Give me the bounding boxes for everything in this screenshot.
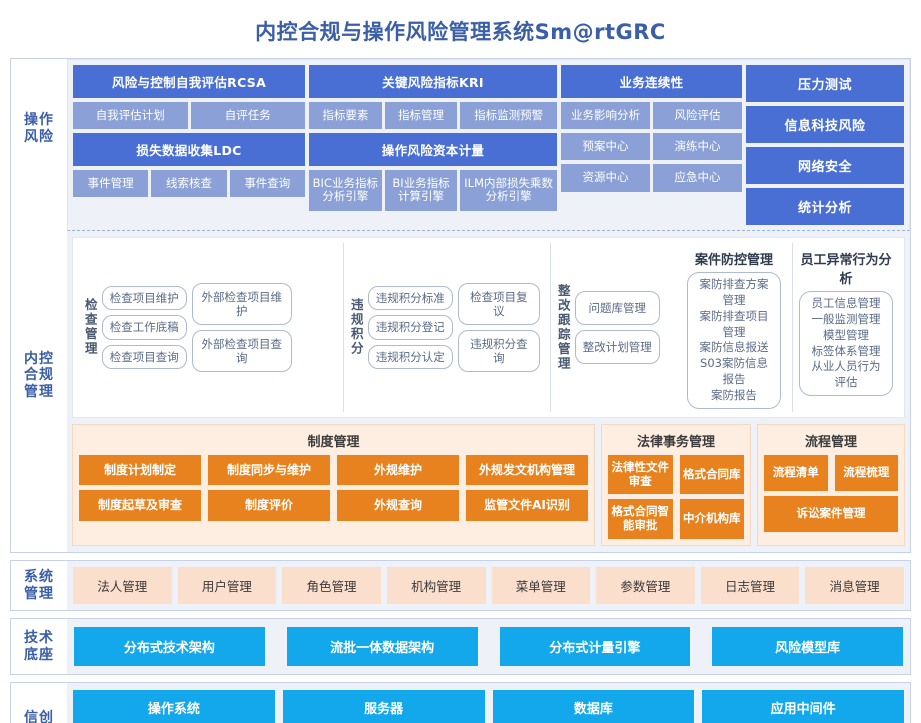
btn-litigation-case-management[interactable]: 诉讼案件管理 — [764, 496, 898, 532]
pill-column-violation-a: 违规积分标准 违规积分登记 违规积分认定 — [368, 286, 453, 369]
btn-distributed-tech-architecture[interactable]: 分布式技术架构 — [74, 627, 265, 666]
process-row-2: 诉讼案件管理 — [764, 496, 898, 532]
grid-process-management: 流程清单 流程梳理 诉讼案件管理 — [764, 455, 898, 532]
btn-log-management[interactable]: 日志管理 — [701, 567, 800, 604]
band-label-system-management: 系统 管理 — [11, 561, 67, 610]
submodule-row-bc-3: 资源中心 应急中心 — [561, 164, 742, 191]
module-header-ldc[interactable]: 损失数据收集LDC — [73, 133, 305, 166]
card-item-model-management[interactable]: 模型管理 — [810, 328, 882, 344]
card-title-employee-behavior: 员工异常行为分析 — [799, 246, 893, 291]
band-label-tech-base-line2: 底座 — [24, 647, 54, 664]
submodule-row-kri: 指标要素 指标管理 指标监测预警 — [309, 102, 557, 129]
band-label-tech-base: 技术 底座 — [11, 619, 67, 674]
band-label-internal-control: 内控 合规 管理 — [11, 199, 67, 552]
btn-external-rule-maintenance[interactable]: 外规维护 — [337, 455, 459, 485]
pill-column-violation-b: 检查项目复议 违规积分查询 — [458, 283, 540, 372]
internal-control-groups-row: 检查管理 检查项目维护 检查工作底稿 检查项目查询 外部检查项目维护 外部检查项… — [72, 237, 905, 418]
submodule-event-management[interactable]: 事件管理 — [73, 170, 148, 197]
submodule-row-bc-1: 业务影响分析 风险评估 — [561, 102, 742, 129]
card-item-case-plan-management[interactable]: 案防排查方案管理 — [698, 277, 770, 309]
box-title-policy-management: 制度管理 — [79, 429, 588, 455]
band-label-operation-risk: 操作 风险 — [11, 59, 67, 199]
module-header-rcsa[interactable]: 风险与控制自我评估RCSA — [73, 65, 305, 98]
pill-column-rectification: 问题库管理 整改计划管理 — [575, 291, 660, 364]
card-title-case-prevention: 案件防控管理 — [695, 246, 773, 272]
submodule-row-orc: BIC业务指标分析引擎 BI业务指标计算引擎 ILM内部损失乘数分析引擎 — [309, 170, 557, 210]
xinchuang-header-os[interactable]: 操作系统 — [73, 690, 275, 723]
card-item-general-monitoring[interactable]: 一般监测管理 — [810, 312, 882, 328]
module-network-security[interactable]: 网络安全 — [746, 147, 904, 184]
band-label-internal-control-line1: 内控 — [24, 351, 54, 368]
btn-risk-model-library[interactable]: 风险模型库 — [712, 627, 903, 666]
xinchuang-column-middleware: 应用中间件 东方通、宝兰德、中创... — [702, 690, 904, 723]
btn-regulatory-doc-ai-recognition[interactable]: 监管文件AI识别 — [466, 490, 588, 520]
band-label-operation-risk-line1: 操作 — [24, 112, 54, 129]
operation-risk-column-3: 业务连续性 业务影响分析 风险评估 预案中心 演练中心 资源中心 应急中心 — [561, 65, 742, 225]
submodule-emergency-center[interactable]: 应急中心 — [653, 164, 742, 191]
btn-stream-batch-data-architecture[interactable]: 流批一体数据架构 — [287, 627, 478, 666]
submodule-row-ldc: 事件管理 线索核查 事件查询 — [73, 170, 305, 197]
band-label-xinchuang-support: 信创 支持 — [11, 683, 67, 723]
band-label-internal-control-line2: 合规 — [24, 367, 54, 384]
operation-risk-grid: 风险与控制自我评估RCSA 自我评估计划 自评任务 损失数据收集LDC 事件管理… — [73, 65, 904, 225]
card-item-employee-info-management[interactable]: 员工信息管理 — [810, 296, 882, 312]
btn-parameter-management[interactable]: 参数管理 — [596, 567, 695, 604]
card-item-tag-system-management[interactable]: 标签体系管理 — [810, 344, 882, 360]
btn-process-list[interactable]: 流程清单 — [764, 455, 828, 491]
submodule-indicator-management[interactable]: 指标管理 — [385, 102, 458, 129]
submodule-bic-engine[interactable]: BIC业务指标分析引擎 — [309, 170, 382, 210]
group-label-inspection-management: 检查管理 — [83, 298, 97, 356]
box-title-process-management: 流程管理 — [764, 429, 898, 455]
btn-intermediary-agency-library[interactable]: 中介机构库 — [680, 499, 745, 539]
btn-role-management[interactable]: 角色管理 — [282, 567, 381, 604]
pill-violation-point-standard[interactable]: 违规积分标准 — [368, 286, 453, 310]
box-process-management: 流程管理 流程清单 流程梳理 诉讼案件管理 — [757, 424, 905, 546]
tech-base-band: 技术 底座 分布式技术架构 流批一体数据架构 分布式计量引擎 风险模型库 — [10, 618, 911, 675]
submodule-risk-assessment[interactable]: 风险评估 — [653, 102, 742, 129]
btn-process-combing[interactable]: 流程梳理 — [835, 455, 899, 491]
tech-base-items: 分布式技术架构 流批一体数据架构 分布式计量引擎 风险模型库 — [67, 619, 910, 674]
operation-risk-column-2: 关键风险指标KRI 指标要素 指标管理 指标监测预警 操作风险资本计量 BIC业… — [309, 65, 557, 225]
internal-control-orange-row: 制度管理 制度计划制定 制度同步与维护 外规维护 外规发文机构管理 制度起草及审… — [72, 424, 905, 546]
pill-inspection-item-review[interactable]: 检查项目复议 — [458, 283, 540, 325]
pill-column-inspection-a: 检查项目维护 检查工作底稿 检查项目查询 — [102, 286, 187, 369]
box-title-legal-affairs: 法律事务管理 — [608, 429, 744, 455]
group-label-violation-points: 违规积分 — [349, 298, 363, 356]
pill-issue-library-management[interactable]: 问题库管理 — [575, 291, 660, 325]
submodule-clue-verification[interactable]: 线索核查 — [151, 170, 226, 197]
band-label-operation-risk-line2: 风险 — [24, 129, 54, 146]
legal-row-1: 法律性文件审查 格式合同库 — [608, 455, 744, 495]
btn-policy-sync-maintenance[interactable]: 制度同步与维护 — [208, 455, 330, 485]
submodule-self-assessment-plan[interactable]: 自我评估计划 — [73, 102, 188, 129]
group-inspection-management: 检查管理 检查项目维护 检查工作底稿 检查项目查询 外部检查项目维护 外部检查项… — [78, 243, 338, 412]
submodule-self-assessment-task[interactable]: 自评任务 — [191, 102, 306, 129]
xinchuang-items: 操作系统 麒麟、统信、中科方德... 服务器 龙芯、兆芯、海思... 数据库 达… — [67, 683, 910, 723]
btn-standard-contract-library[interactable]: 格式合同库 — [680, 455, 745, 495]
module-stress-testing[interactable]: 压力测试 — [746, 65, 904, 102]
pill-column-inspection-b: 外部检查项目维护 外部检查项目查询 — [192, 283, 292, 372]
page-title: 内控合规与操作风险管理系统Sm@rtGRC — [10, 6, 911, 58]
box-legal-affairs-management: 法律事务管理 法律性文件审查 格式合同库 格式合同智能审批 中介机构库 — [601, 424, 751, 546]
submodule-resource-center[interactable]: 资源中心 — [561, 164, 650, 191]
submodule-bi-engine[interactable]: BI业务指标计算引擎 — [385, 170, 458, 210]
band-label-system-management-line1: 系统 — [24, 569, 54, 586]
xinchuang-support-band: 信创 支持 操作系统 麒麟、统信、中科方德... 服务器 龙芯、兆芯、海思...… — [10, 682, 911, 723]
system-management-band: 系统 管理 法人管理 用户管理 角色管理 机构管理 菜单管理 参数管理 日志管理… — [10, 560, 911, 611]
btn-policy-drafting-review[interactable]: 制度起草及审查 — [79, 490, 201, 520]
xinchuang-header-database[interactable]: 数据库 — [493, 690, 695, 723]
internal-control-panel: 检查管理 检查项目维护 检查工作底稿 检查项目查询 外部检查项目维护 外部检查项… — [67, 231, 910, 552]
submodule-indicator-elements[interactable]: 指标要素 — [309, 102, 382, 129]
pill-external-inspection-maintenance[interactable]: 外部检查项目维护 — [192, 283, 292, 325]
card-case-prevention-management: 案件防控管理 案防排查方案管理 案防排查项目管理 案防信息报送 S03案防信息报… — [681, 243, 787, 412]
card-list-case-prevention[interactable]: 案防排查方案管理 案防排查项目管理 案防信息报送 S03案防信息报告 案防报告 — [687, 272, 781, 409]
card-employee-abnormal-behavior: 员工异常行为分析 员工信息管理 一般监测管理 模型管理 标签体系管理 从业人员行… — [792, 243, 899, 412]
xinchuang-column-database: 数据库 达梦、人大金仓、OcenBase... — [493, 690, 695, 723]
btn-policy-evaluation[interactable]: 制度评价 — [208, 490, 330, 520]
operation-risk-column-4: 压力测试 信息科技风险 网络安全 统计分析 — [746, 65, 904, 225]
btn-menu-management[interactable]: 菜单管理 — [492, 567, 591, 604]
submodule-indicator-monitoring-alert[interactable]: 指标监测预警 — [460, 102, 557, 129]
card-item-case-info-submission[interactable]: 案防信息报送 — [698, 340, 770, 356]
system-architecture-page: 内控合规与操作风险管理系统Sm@rtGRC 操作 风险 内控 合规 管理 — [0, 0, 921, 640]
submodule-ilm-engine[interactable]: ILM内部损失乘数分析引擎 — [460, 170, 557, 210]
submodule-row-bc-2: 预案中心 演练中心 — [561, 133, 742, 160]
system-management-items: 法人管理 用户管理 角色管理 机构管理 菜单管理 参数管理 日志管理 消息管理 — [67, 561, 910, 610]
btn-organization-management[interactable]: 机构管理 — [387, 567, 486, 604]
btn-external-issuing-agency-management[interactable]: 外规发文机构管理 — [466, 455, 588, 485]
operation-risk-column-1: 风险与控制自我评估RCSA 自我评估计划 自评任务 损失数据收集LDC 事件管理… — [73, 65, 305, 225]
card-list-employee-behavior[interactable]: 员工信息管理 一般监测管理 模型管理 标签体系管理 从业人员行为评估 — [799, 291, 893, 396]
xinchuang-column-os: 操作系统 麒麟、统信、中科方德... — [73, 690, 275, 723]
pill-rectification-plan-management[interactable]: 整改计划管理 — [575, 330, 660, 364]
pill-violation-point-registration[interactable]: 违规积分登记 — [368, 315, 453, 339]
btn-policy-plan-formulation[interactable]: 制度计划制定 — [79, 455, 201, 485]
grid-legal-affairs: 法律性文件审查 格式合同库 格式合同智能审批 中介机构库 — [608, 455, 744, 539]
submodule-plan-center[interactable]: 预案中心 — [561, 133, 650, 160]
pill-inspection-item-query[interactable]: 检查项目查询 — [102, 345, 187, 369]
module-header-orc[interactable]: 操作风险资本计量 — [309, 133, 557, 166]
module-statistical-analysis[interactable]: 统计分析 — [746, 188, 904, 225]
pill-violation-point-query[interactable]: 违规积分查询 — [458, 330, 540, 372]
box-policy-management: 制度管理 制度计划制定 制度同步与维护 外规维护 外规发文机构管理 制度起草及审… — [72, 424, 595, 546]
policy-row-1: 制度计划制定 制度同步与维护 外规维护 外规发文机构管理 — [79, 455, 588, 485]
module-header-business-continuity[interactable]: 业务连续性 — [561, 65, 742, 98]
btn-standard-contract-smart-approval[interactable]: 格式合同智能审批 — [608, 499, 673, 539]
group-violation-points: 违规积分 违规积分标准 违规积分登记 违规积分认定 检查项目复议 违规积分查询 — [343, 243, 545, 412]
pill-inspection-item-maintenance[interactable]: 检查项目维护 — [102, 286, 187, 310]
btn-legal-document-review[interactable]: 法律性文件审查 — [608, 455, 673, 495]
group-label-rectification-tracking: 整改跟踪管理 — [556, 284, 570, 371]
card-item-case-project-management[interactable]: 案防排查项目管理 — [698, 309, 770, 341]
band-label-xinchuang-support-line1: 信创 — [24, 710, 54, 723]
pill-external-inspection-query[interactable]: 外部检查项目查询 — [192, 330, 292, 372]
top-band-main: 风险与控制自我评估RCSA 自我评估计划 自评任务 损失数据收集LDC 事件管理… — [67, 59, 910, 552]
group-rectification-tracking: 整改跟踪管理 问题库管理 整改计划管理 — [550, 243, 676, 412]
top-band-labels: 操作 风险 内控 合规 管理 — [11, 59, 67, 552]
btn-user-management[interactable]: 用户管理 — [178, 567, 277, 604]
legal-row-2: 格式合同智能审批 中介机构库 — [608, 499, 744, 539]
submodule-business-impact-analysis[interactable]: 业务影响分析 — [561, 102, 650, 129]
btn-legal-entity-management[interactable]: 法人管理 — [73, 567, 172, 604]
btn-distributed-measurement-engine[interactable]: 分布式计量引擎 — [500, 627, 691, 666]
pill-inspection-workpaper[interactable]: 检查工作底稿 — [102, 315, 187, 339]
xinchuang-column-server: 服务器 龙芯、兆芯、海思... — [283, 690, 485, 723]
card-item-case-report[interactable]: 案防报告 — [698, 388, 770, 404]
submodule-drill-center[interactable]: 演练中心 — [653, 133, 742, 160]
card-item-practitioner-behavior-assessment[interactable]: 从业人员行为评估 — [810, 359, 882, 391]
btn-external-rule-query[interactable]: 外规查询 — [337, 490, 459, 520]
card-item-s03-case-info-report[interactable]: S03案防信息报告 — [698, 356, 770, 388]
submodule-row-rcsa: 自我评估计划 自评任务 — [73, 102, 305, 129]
pill-violation-point-determination[interactable]: 违规积分认定 — [368, 345, 453, 369]
band-label-internal-control-line3: 管理 — [24, 384, 54, 401]
band-label-system-management-line2: 管理 — [24, 586, 54, 603]
submodule-event-query[interactable]: 事件查询 — [230, 170, 305, 197]
policy-row-2: 制度起草及审查 制度评价 外规查询 监管文件AI识别 — [79, 490, 588, 520]
module-header-kri[interactable]: 关键风险指标KRI — [309, 65, 557, 98]
xinchuang-header-middleware[interactable]: 应用中间件 — [702, 690, 904, 723]
top-band: 操作 风险 内控 合规 管理 风险与控制自我评估RCSA — [10, 58, 911, 553]
module-it-risk[interactable]: 信息科技风险 — [746, 106, 904, 143]
grid-policy-management: 制度计划制定 制度同步与维护 外规维护 外规发文机构管理 制度起草及审查 制度评… — [79, 455, 588, 521]
btn-message-management[interactable]: 消息管理 — [805, 567, 904, 604]
operation-risk-panel: 风险与控制自我评估RCSA 自我评估计划 自评任务 损失数据收集LDC 事件管理… — [67, 59, 910, 231]
band-label-tech-base-line1: 技术 — [24, 630, 54, 647]
xinchuang-header-server[interactable]: 服务器 — [283, 690, 485, 723]
process-row-1: 流程清单 流程梳理 — [764, 455, 898, 491]
